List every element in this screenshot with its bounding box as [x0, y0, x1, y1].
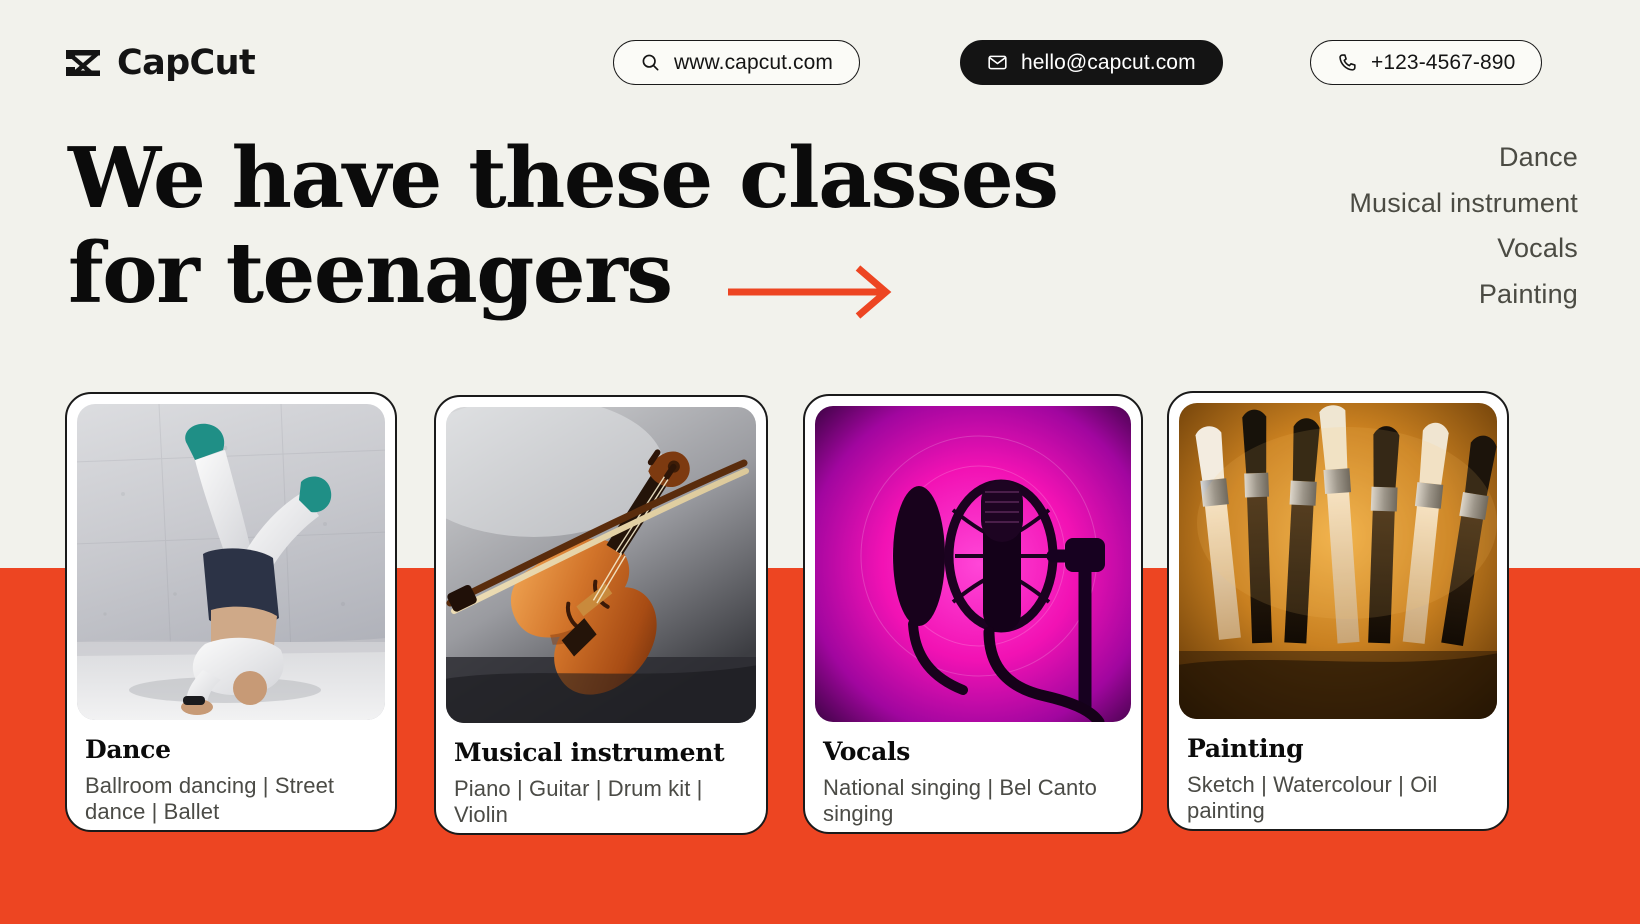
email-pill-label: hello@capcut.com: [1021, 51, 1196, 75]
headline-line-2-row: for teenagers: [68, 226, 1248, 321]
card-body: Painting Sketch | Watercolour | Oil pain…: [1169, 719, 1507, 825]
menu-item-vocals[interactable]: Vocals: [1349, 231, 1578, 266]
page-title: We have these classes for teenagers: [68, 131, 1248, 322]
menu-item-painting[interactable]: Painting: [1349, 277, 1578, 312]
card-title: Vocals: [823, 738, 1125, 766]
card-description: Ballroom dancing | Street dance | Ballet: [85, 773, 379, 827]
paint-brushes-photo: [1179, 403, 1497, 719]
card-body: Dance Ballroom dancing | Street dance | …: [67, 720, 395, 826]
arrow-right-icon[interactable]: [726, 245, 896, 303]
phone-pill[interactable]: +123-4567-890: [1310, 40, 1542, 85]
breakdancer-handstand-photo: [77, 404, 385, 720]
poster-canvas: CapCut www.capcut.com: [0, 0, 1640, 924]
card-title: Painting: [1187, 735, 1491, 763]
website-pill[interactable]: www.capcut.com: [613, 40, 860, 85]
class-card-musical-instrument[interactable]: Musical instrument Piano | Guitar | Drum…: [434, 395, 768, 835]
menu-item-musical-instrument[interactable]: Musical instrument: [1349, 186, 1578, 221]
headline-line-1: We have these classes: [68, 131, 1248, 226]
card-body: Musical instrument Piano | Guitar | Drum…: [436, 723, 766, 829]
header: CapCut www.capcut.com: [0, 0, 1640, 124]
menu-item-dance[interactable]: Dance: [1349, 140, 1578, 175]
website-pill-label: www.capcut.com: [674, 51, 833, 75]
card-title: Musical instrument: [454, 739, 750, 767]
phone-pill-label: +123-4567-890: [1371, 51, 1515, 75]
studio-microphone-magenta-photo: [815, 406, 1131, 722]
headline-line-2: for teenagers: [68, 226, 672, 321]
card-body: Vocals National singing | Bel Canto sing…: [805, 722, 1141, 828]
email-pill[interactable]: hello@capcut.com: [960, 40, 1223, 85]
contact-pill-group: www.capcut.com hello@capcut.com +12: [0, 0, 1640, 124]
class-card-dance[interactable]: Dance Ballroom dancing | Street dance | …: [65, 392, 397, 832]
class-card-vocals[interactable]: Vocals National singing | Bel Canto sing…: [803, 394, 1143, 834]
phone-icon: [1337, 52, 1358, 73]
class-card-painting[interactable]: Painting Sketch | Watercolour | Oil pain…: [1167, 391, 1509, 831]
card-description: Sketch | Watercolour | Oil painting: [1187, 772, 1491, 826]
card-description: National singing | Bel Canto singing: [823, 775, 1125, 829]
card-description: Piano | Guitar | Drum kit | Violin: [454, 776, 750, 830]
search-icon: [640, 52, 661, 73]
violin-and-bow-photo: [446, 407, 756, 723]
mail-icon: [987, 52, 1008, 73]
category-menu: Dance Musical instrument Vocals Painting: [1349, 140, 1578, 311]
card-title: Dance: [85, 736, 379, 764]
